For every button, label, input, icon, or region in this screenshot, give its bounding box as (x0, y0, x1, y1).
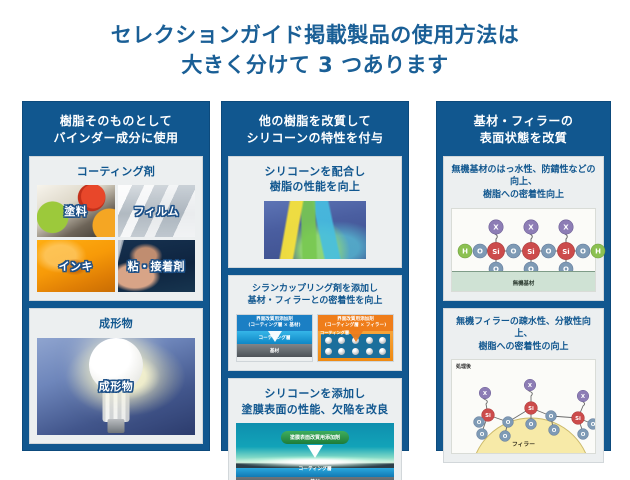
svg-text:O: O (511, 247, 517, 255)
card-blend-silicone[interactable]: シリコーンを配合し 樹脂の性能を向上 (228, 156, 402, 268)
svg-text:H: H (462, 247, 468, 255)
tile-adhesive[interactable]: 粘・接着剤 (118, 240, 196, 292)
svg-text:O: O (549, 414, 554, 420)
diagram-interface-substrate-body: コーティング層 基材 (237, 331, 312, 357)
card-silane-coupling[interactable]: シランカップリング剤を添加し 基材・フィラーとの密着性を向上 界面改質用添加剤 … (228, 275, 402, 372)
silane-diagram-pair: 界面改質用添加剤 (コーティング層 × 基材) コーティング層 基材 (236, 314, 394, 362)
svg-text:O: O (581, 432, 586, 438)
filler-particle (366, 348, 373, 355)
svg-text:Si: Si (528, 406, 534, 412)
card-inorganic-filler-title-line-2: 樹脂への密着性の向上 (451, 341, 596, 354)
diagram-interface-filler[interactable]: 界面改質用添加剤 (コーティング層 × フィラー) コーティング層 (317, 314, 394, 362)
liquid-splash-image[interactable] (264, 201, 366, 259)
inorganic-substrate-label: 無機基材 (452, 279, 595, 287)
card-inorganic-substrate-title-line-2: 樹脂への密着性向上 (451, 189, 596, 202)
panel-2-heading-line-1: 他の樹脂を改質して (230, 113, 400, 130)
filler-particle (325, 348, 332, 355)
diagram-interface-filler-caption: 界面改質用添加剤 (コーティング層 × フィラー) (318, 315, 393, 331)
panel-3-heading: 基材・フィラーの 表面状態を改質 (443, 107, 604, 156)
panel-3-heading-line-1: 基材・フィラーの (445, 113, 602, 130)
card-silane-coupling-title: シランカップリング剤を添加し 基材・フィラーとの密着性を向上 (236, 283, 394, 308)
filler-particle (338, 337, 345, 344)
card-silane-coupling-title-line-1: シランカップリング剤を添加し (236, 283, 394, 296)
diagram-interface-substrate-caption: 界面改質用添加剤 (コーティング層 × 基材) (237, 315, 312, 331)
led-bulb-image[interactable]: 成形物 (37, 338, 195, 435)
card-inorganic-filler-title-line-1: 無機フィラーの疎水性、分散性向上、 (451, 316, 596, 341)
card-coating-agent[interactable]: コーティング剤 塗料 フィルム インキ 粘・接着剤 (29, 156, 203, 301)
bulb-image-label: 成形物 (99, 378, 134, 394)
page-title-line-2: 大きく分けて 3 つあります (0, 50, 630, 80)
svg-text:O: O (506, 420, 511, 426)
tile-film[interactable]: フィルム (118, 185, 196, 237)
tile-paint[interactable]: 塗料 (37, 185, 115, 237)
card-inorganic-substrate-title: 無機基材のはっ水性、防錆性などの向上、 樹脂への密着性向上 (451, 164, 596, 202)
card-inorganic-substrate[interactable]: 無機基材のはっ水性、防錆性などの向上、 樹脂への密着性向上 (443, 156, 604, 301)
card-coating-agent-title: コーティング剤 (37, 164, 195, 179)
filler-particle (325, 337, 332, 344)
card-molded-article[interactable]: 成形物 成形物 (29, 308, 203, 443)
card-surface-modifier-title: シリコーンを添加し 塗膜表面の性能、欠陥を改良 (236, 386, 394, 417)
tile-film-label: フィルム (133, 203, 179, 219)
layer-base-substrate: 基材 (237, 344, 312, 357)
svg-text:Si: Si (492, 247, 499, 255)
coating-surface-diagram[interactable]: 塗膜表面改質用添加剤 コーティング層 基材 (236, 423, 394, 480)
down-arrow-icon (268, 331, 282, 342)
svg-text:Si: Si (562, 247, 569, 255)
svg-text:Si: Si (485, 413, 491, 419)
panel-resin-binder[interactable]: 樹脂そのものとして バインダー成分に使用 コーティング剤 塗料 フィルム インキ (22, 101, 210, 451)
svg-text:O: O (552, 428, 557, 434)
filler-sphere-diagram[interactable]: 処理後 (451, 359, 596, 454)
coating-agent-tile-grid: 塗料 フィルム インキ 粘・接着剤 (37, 185, 195, 292)
panel-1-heading-line-1: 樹脂そのものとして (31, 113, 201, 130)
tile-ink[interactable]: インキ (37, 240, 115, 292)
panel-2-heading-line-2: シリコーンの特性を付与 (230, 130, 400, 147)
card-surface-modifier-title-line-2: 塗膜表面の性能、欠陥を改良 (236, 402, 394, 417)
diag-sub-cap-line-2: (コーティング層 × 基材) (238, 323, 311, 329)
filler-particle (379, 348, 386, 355)
svg-text:Si: Si (527, 247, 534, 255)
card-inorganic-filler[interactable]: 無機フィラーの疎水性、分散性向上、 樹脂への密着性の向上 処理後 (443, 308, 604, 464)
filler-particle (352, 348, 359, 355)
panel-resin-modification[interactable]: 他の樹脂を改質して シリコーンの特性を付与 シリコーンを配合し 樹脂の性能を向上… (221, 101, 409, 451)
svg-text:H: H (595, 247, 601, 255)
panel-2-heading: 他の樹脂を改質して シリコーンの特性を付与 (228, 107, 402, 156)
panel-surface-treatment[interactable]: 基材・フィラーの 表面状態を改質 無機基材のはっ水性、防錆性などの向上、 樹脂へ… (436, 101, 611, 451)
svg-text:O: O (580, 247, 586, 255)
slide-root: セレクションガイド掲載製品の使用方法は 大きく分けて 3 つあります 樹脂そのも… (0, 0, 630, 480)
down-arrow-white-icon (307, 445, 323, 458)
down-arrow-orange-icon (349, 331, 363, 342)
card-blend-silicone-title: シリコーンを配合し 樹脂の性能を向上 (236, 164, 394, 195)
surface-modifier-badge: 塗膜表面改質用添加剤 (281, 431, 349, 444)
panel-1-heading-line-2: バインダー成分に使用 (31, 130, 201, 147)
filler-particle (379, 337, 386, 344)
svg-text:X: X (493, 223, 499, 231)
svg-text:O: O (529, 422, 534, 428)
page-title-line-1: セレクションガイド掲載製品の使用方法は (111, 23, 520, 47)
svg-text:O: O (480, 432, 485, 438)
filler-particles-diagram: コーティング層 (318, 331, 393, 361)
svg-text:O: O (591, 422, 596, 428)
tile-ink-label: インキ (59, 258, 94, 274)
tile-paint-label: 塗料 (64, 203, 87, 219)
layer-base-substrate-label: 基材 (237, 348, 312, 354)
panel-3-heading-line-2: 表面状態を改質 (445, 130, 602, 147)
card-blend-silicone-title-line-1: シリコーンを配合し (236, 164, 394, 179)
filler-particle (338, 348, 345, 355)
tile-adhesive-label: 粘・接着剤 (128, 258, 186, 274)
card-molded-article-title: 成形物 (37, 316, 195, 331)
svg-text:O: O (477, 420, 482, 426)
svg-text:X: X (563, 223, 569, 231)
panel-1-heading: 樹脂そのものとして バインダー成分に使用 (29, 107, 203, 156)
diag-fill-cap-line-2: (コーティング層 × フィラー) (319, 323, 392, 329)
panels-container: 樹脂そのものとして バインダー成分に使用 コーティング剤 塗料 フィルム インキ (0, 101, 630, 453)
card-surface-modifier[interactable]: シリコーンを添加し 塗膜表面の性能、欠陥を改良 塗膜表面改質用添加剤 コーティン… (228, 378, 402, 480)
card-silane-coupling-title-line-2: 基材・フィラーとの密着性を向上 (236, 295, 394, 308)
page-title: セレクションガイド掲載製品の使用方法は 大きく分けて 3 つあります (0, 20, 630, 81)
card-blend-silicone-title-line-2: 樹脂の性能を向上 (236, 179, 394, 194)
siloxane-chain-diagram[interactable]: H O Si O Si O Si (451, 208, 596, 292)
filler-coating-layer-label: コーティング層 (320, 330, 349, 336)
card-inorganic-filler-title: 無機フィラーの疎水性、分散性向上、 樹脂への密着性の向上 (451, 316, 596, 354)
surface-coating-label: コーティング層 (236, 465, 394, 472)
svg-text:O: O (546, 247, 552, 255)
card-surface-modifier-title-line-1: シリコーンを添加し (236, 386, 394, 401)
svg-text:O: O (477, 247, 483, 255)
bulb-base (108, 419, 125, 433)
diagram-interface-substrate[interactable]: 界面改質用添加剤 (コーティング層 × 基材) コーティング層 基材 (236, 314, 313, 362)
svg-text:Si: Si (575, 416, 581, 422)
filler-particle (366, 337, 373, 344)
card-inorganic-substrate-title-line-1: 無機基材のはっ水性、防錆性などの向上、 (451, 164, 596, 189)
svg-text:X: X (528, 223, 534, 231)
filler-sphere-label: フィラー (452, 439, 595, 448)
